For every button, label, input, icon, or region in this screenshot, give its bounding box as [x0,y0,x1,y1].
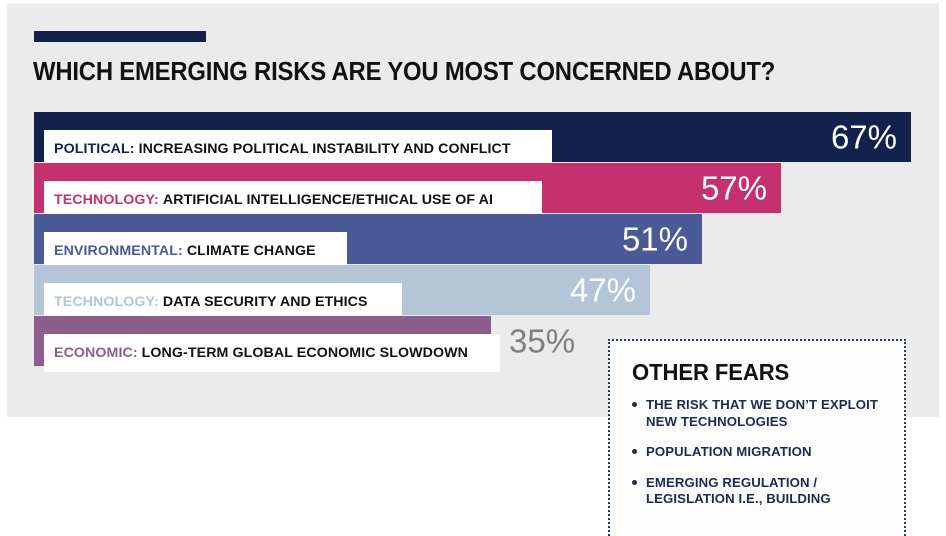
bar-value-technology-data: 47% [570,274,636,307]
bar-description-environmental: CLIMATE CHANGE [187,243,316,259]
bar-description-technology-data: DATA SECURITY AND ETHICS [163,294,368,310]
bar-description-political: INCREASING POLITICAL INSTABILITY AND CON… [139,141,511,157]
list-item: EMERGING REGULATION / LEGISLATION I.E., … [632,475,884,508]
list-item-label: EMERGING REGULATION / LEGISLATION I.E., … [646,475,831,507]
other-fears-card: OTHER FEARS THE RISK THAT WE DON’T EXPLO… [608,339,906,536]
bar-category-environmental: ENVIRONMENTAL: [54,243,183,259]
bar-category-technology-data: TECHNOLOGY: [54,294,159,310]
bullet-icon [632,480,637,485]
bar-row: 47% TECHNOLOGY: DATA SECURITY AND ETHICS [34,265,914,315]
bar-category-economic: ECONOMIC: [54,345,138,361]
other-fears-heading: OTHER FEARS [632,359,874,386]
bullet-icon [632,449,637,454]
bar-value-environmental: 51% [622,223,688,256]
bar-chart: 67% POLITICAL: INCREASING POLITICAL INST… [34,112,914,367]
other-fears-list: THE RISK THAT WE DON’T EXPLOIT NEW TECHN… [632,397,884,508]
list-item: POPULATION MIGRATION [632,444,884,461]
bar-description-economic: LONG-TERM GLOBAL ECONOMIC SLOWDOWN [142,345,468,361]
bar-label-economic: ECONOMIC: LONG-TERM GLOBAL ECONOMIC SLOW… [44,334,500,372]
page-title: WHICH EMERGING RISKS ARE YOU MOST CONCER… [33,58,846,87]
accent-rule [34,31,206,42]
bar-row: 67% POLITICAL: INCREASING POLITICAL INST… [34,112,914,162]
list-item-label: POPULATION MIGRATION [646,444,812,459]
infographic-slide: WHICH EMERGING RISKS ARE YOU MOST CONCER… [0,0,946,536]
bar-value-political: 67% [831,121,897,154]
bar-category-political: POLITICAL: [54,141,135,157]
bar-row: 51% ENVIRONMENTAL: CLIMATE CHANGE [34,214,914,264]
bar-description-technology-ai: ARTIFICIAL INTELLIGENCE/ETHICAL USE OF A… [163,192,493,208]
bullet-icon [632,402,637,407]
bar-value-technology-ai: 57% [701,172,767,205]
bar-row: 57% TECHNOLOGY: ARTIFICIAL INTELLIGENCE/… [34,163,914,213]
list-item: THE RISK THAT WE DON’T EXPLOIT NEW TECHN… [632,397,884,430]
bar-value-economic: 35% [509,325,575,358]
list-item-label: THE RISK THAT WE DON’T EXPLOIT NEW TECHN… [646,397,878,429]
bar-category-technology-ai: TECHNOLOGY: [54,192,159,208]
